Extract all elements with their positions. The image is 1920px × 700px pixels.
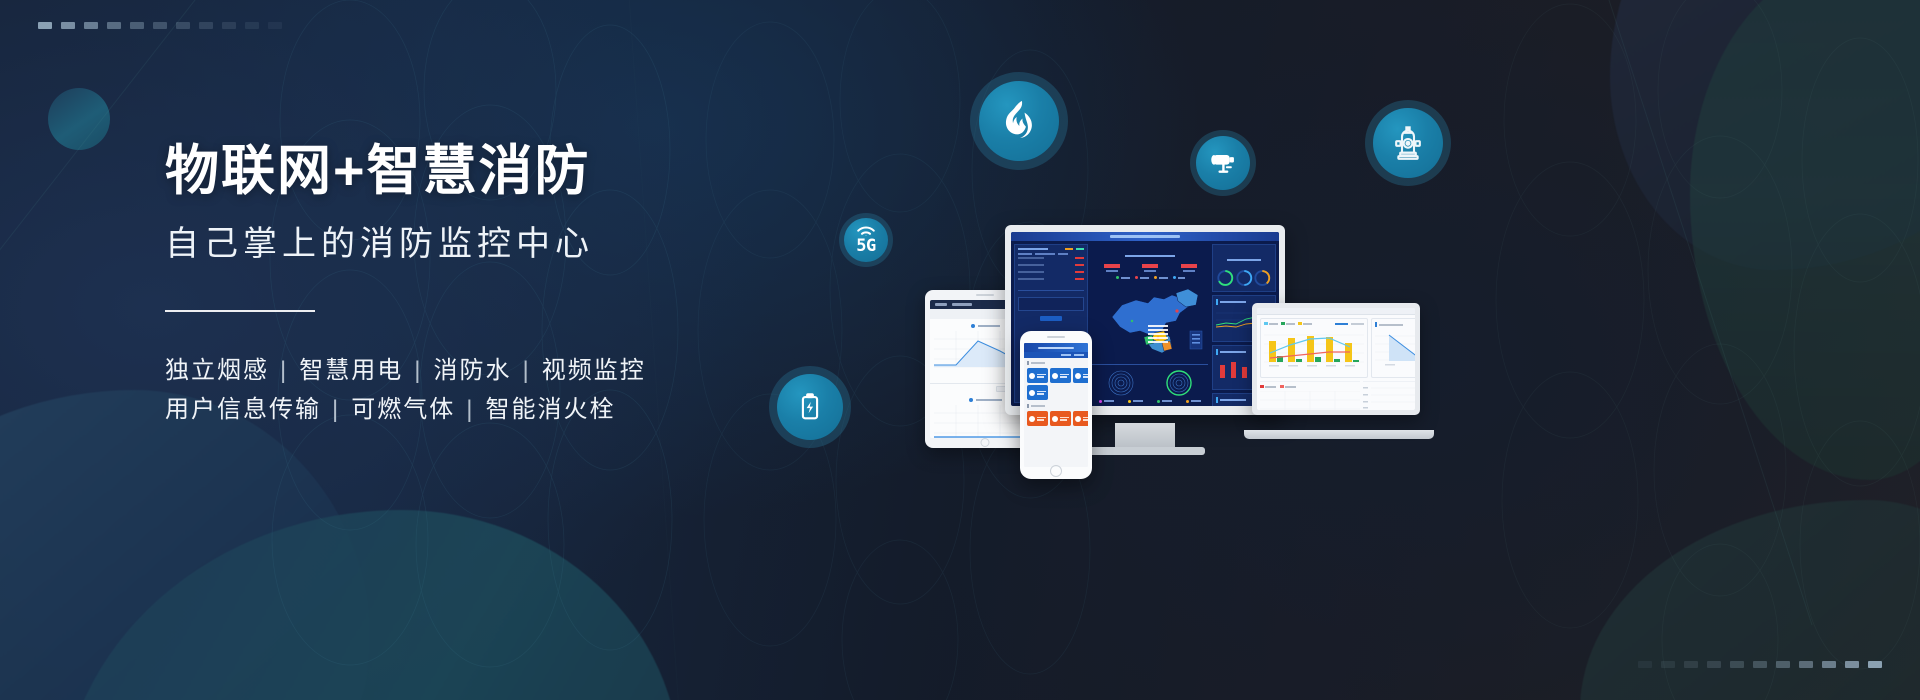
fire-icon [996,98,1042,144]
blob-bottom-left-1 [0,390,370,700]
laptop-table-panel [1260,381,1360,410]
phone-speaker [1047,336,1065,338]
radar-chart-2 [1159,368,1199,398]
diagonal-line-2 [1589,0,1812,625]
monitor-kpi-row [1092,264,1208,272]
feature-item: 用户信息传输 [165,391,321,430]
feature-separator: | [414,352,422,391]
laptop-bar-chart-panel [1260,318,1368,378]
feature-item: 智能消火栓 [485,391,615,430]
camera-icon-badge [1190,130,1256,196]
camera-icon [1207,147,1239,179]
phone-tile-grid-alarm [1027,411,1085,426]
monitor-center-panel [1091,241,1209,406]
monitor-gauges [1216,268,1272,288]
5g-icon-badge: 5G [839,213,893,267]
china-map-chart [1092,281,1212,361]
device-mockups [900,225,1440,475]
5g-icon: 5G [855,225,877,255]
tile-item[interactable] [1073,368,1088,383]
tile-item[interactable] [1027,368,1048,383]
feature-separator: | [332,391,340,430]
hydrant-icon-badge [1365,100,1451,186]
tile-item[interactable] [1050,368,1071,383]
tile-item[interactable] [1027,385,1048,400]
divider-rule [165,310,315,312]
5g-label: 5G [856,238,875,255]
mesh-texture-right [1480,0,1920,700]
feature-separator: | [522,352,530,391]
page-title: 物联网+智慧消防 [165,140,925,204]
tablet-camera [976,294,994,296]
laptop-axis-panel [1363,381,1415,410]
feature-item: 智慧用电 [299,352,403,391]
feature-separator: | [280,352,288,391]
laptop-area-chart-panel [1371,318,1415,378]
battery-icon [793,390,827,424]
laptop-descending-area [1375,329,1415,369]
tile-item[interactable] [1027,411,1048,426]
blob-top-right-2 [1690,0,1920,480]
battery-icon-badge [769,366,851,448]
laptop-combo-chart [1264,327,1364,369]
tile-item[interactable] [1073,411,1088,426]
feature-item: 消防水 [433,352,511,391]
laptop-device [1252,303,1432,431]
blob-bottom-right-1 [1580,500,1920,700]
monitor-foot [1085,447,1205,455]
phone-home-button[interactable] [1050,465,1062,477]
laptop-lid [1252,303,1420,415]
monitor-stand [1115,423,1175,449]
phone-tile-grid-normal [1027,368,1085,400]
decorative-ticks-bottom-right [1638,661,1882,668]
decorative-circle [48,88,110,150]
decorative-ticks-top-left [38,22,282,29]
tablet-home-button [981,438,990,447]
blob-top-right-1 [1610,0,1920,270]
phone-screen [1024,343,1088,467]
laptop-base [1244,430,1434,439]
fire-icon-badge [970,72,1068,170]
blob-bottom-left-2 [60,510,680,700]
feature-separator: | [466,391,474,430]
hydrant-icon [1388,123,1428,163]
feature-item: 独立烟感 [165,352,269,391]
laptop-screen [1257,308,1415,410]
feature-item: 视频监控 [542,352,646,391]
radar-chart-1 [1101,368,1141,398]
page-subtitle: 自己掌上的消防监控中心 [165,222,925,266]
hero-banner: 物联网+智慧消防 自己掌上的消防监控中心 独立烟感 | 智慧用电 | 消防水 |… [0,0,1920,700]
phone-device [1020,331,1092,479]
tile-item[interactable] [1050,411,1071,426]
feature-item: 可燃气体 [351,391,455,430]
